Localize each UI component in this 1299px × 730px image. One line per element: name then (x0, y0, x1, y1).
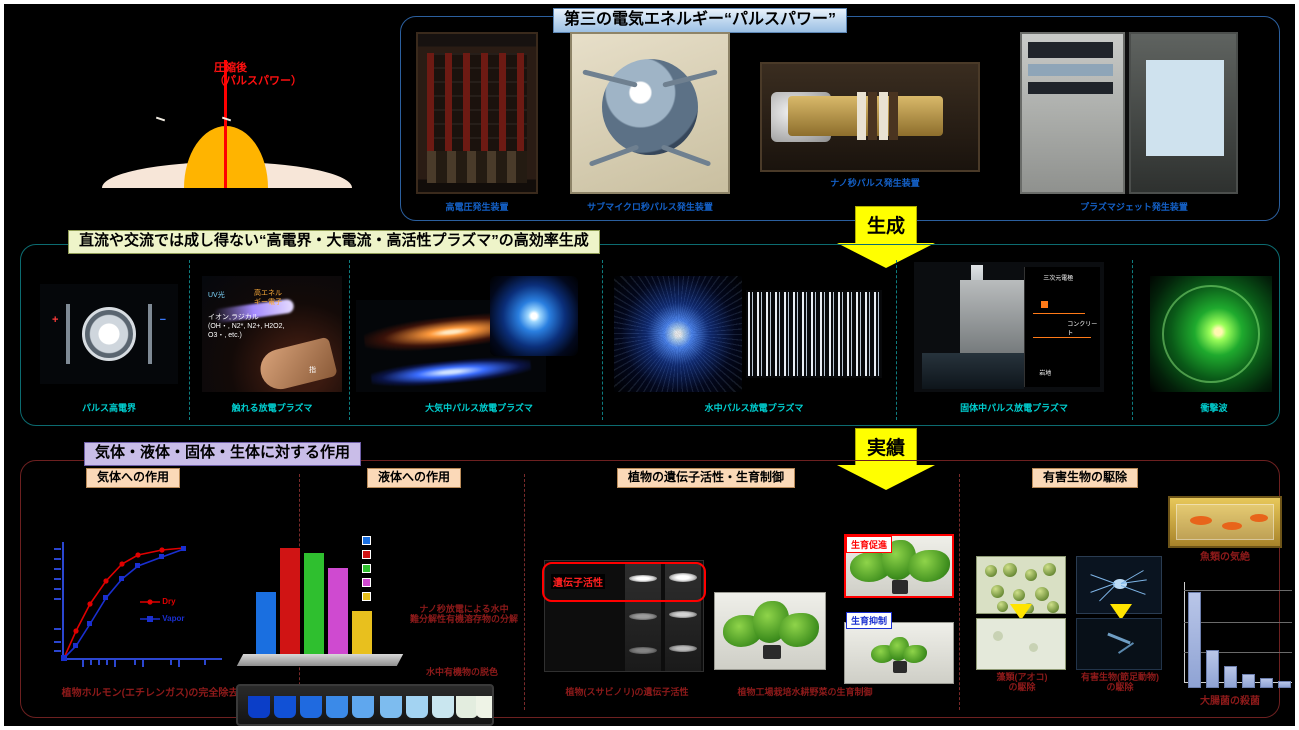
photo-algae-after (976, 618, 1066, 670)
water-tank (922, 353, 1025, 389)
caption-hydroponic-growth-control: 植物工場栽培水耕野菜の生育制御 (700, 687, 910, 697)
electrode-plus-label: + (52, 314, 58, 326)
caption-high-voltage-generator: 高電圧発生装置 (407, 202, 547, 212)
photo-test-tube-rack (236, 684, 494, 726)
row2-divider-2 (349, 260, 350, 420)
legend-dry: Dry (140, 597, 176, 606)
row2-divider-3 (602, 260, 603, 420)
row2-divider-4 (896, 260, 897, 420)
algae-cell (1035, 587, 1049, 601)
tag-gene-activity: 遺伝子活性 (551, 574, 605, 589)
algae-cell (1013, 589, 1025, 601)
overlay-ions-radicals: イオン,ラジカル (OH・, N2*, N2+, H2O2, O3・, etc.… (208, 314, 284, 340)
row2-divider-5 (1132, 260, 1133, 420)
legend-swatch-3 (362, 564, 371, 573)
caption-submicrosecond-pulse-generator: サブマイクロ秒パルス発生装置 (560, 202, 740, 212)
algae-cell (985, 565, 997, 577)
bar-5 (352, 611, 372, 654)
gel-band-4 (669, 611, 697, 618)
photo-hydroponic-plant (714, 592, 826, 670)
ecoli-bar-4 (1242, 674, 1255, 688)
overlay-finger-label: 指 (309, 367, 316, 376)
legend-swatch-2 (362, 550, 371, 559)
shock-ring (1162, 285, 1260, 382)
test-tube-6 (380, 696, 402, 718)
test-tube-2 (274, 696, 296, 718)
promoted-leaf-right (908, 550, 950, 582)
concrete-diagram: 三次元電極 コンクリート 岩地 (1024, 267, 1100, 387)
caption-atmospheric-pulsed-discharge: 大気中パルス放電プラズマ (389, 403, 569, 413)
caption-ecoli-sterilization: 大腸菌の殺菌 (1170, 696, 1290, 708)
rack-slot-1 (1028, 42, 1113, 58)
algae-remnant (993, 631, 1003, 641)
algae-remnant (1029, 643, 1038, 652)
fish-3 (1250, 514, 1268, 522)
crack-line-1 (1033, 313, 1085, 314)
row3-title: 気体・液体・固体・生体に対する作用 (84, 442, 361, 466)
rack-slot-3 (1028, 82, 1113, 94)
label-concrete: コンクリート (1067, 319, 1100, 337)
subhead-plant-gene-growth: 植物の遺伝子活性・生育制御 (617, 468, 795, 488)
blue-glow-streak (371, 354, 532, 390)
concrete-block (960, 280, 1025, 361)
legend-marker-dry (140, 598, 160, 606)
arrow-generation-label: 生成 (837, 211, 935, 238)
photo-streamer-array (746, 290, 882, 378)
coil-arm-bottom-right (661, 144, 712, 166)
streamer-filaments (748, 292, 880, 376)
plant-pot (763, 645, 781, 659)
photo-touchable-plasma: UV光 高エネル ギー電子 イオン,ラジカル (OH・, N2*, N2+, H… (202, 276, 342, 392)
arthropod-debris (1107, 633, 1130, 645)
chart-plinth (237, 654, 403, 666)
row2-divider-1 (189, 260, 190, 420)
caption-decolorization: 水中有機物の脱色 (392, 667, 532, 677)
subhead-liquid-action: 液体への作用 (367, 468, 461, 488)
stripe-1 (857, 92, 866, 141)
electrode-marker (1041, 301, 1048, 308)
caption-gene-activity: 植物(スサビノリ)の遺伝子活性 (532, 687, 722, 697)
row3-divider-3 (959, 474, 960, 710)
tag-growth-suppress: 生育抑制 (846, 612, 892, 629)
algae-cell (997, 601, 1008, 612)
arthropod-debris (1118, 642, 1134, 654)
caption-solid-pulsed-discharge: 固体中パルス放電プラズマ (929, 403, 1099, 413)
photo-nanosecond-pulse-generator (760, 62, 980, 172)
arthropod-leg (1121, 585, 1146, 595)
glow-halo (490, 276, 578, 356)
ecoli-bar-2 (1206, 650, 1219, 688)
bar-3 (304, 553, 324, 654)
ecoli-bar-5 (1260, 678, 1273, 688)
legend-swatch-1 (362, 536, 371, 545)
starburst-core (614, 276, 742, 392)
photo-arthropod-after (1076, 618, 1162, 670)
algae-cell (1047, 601, 1059, 613)
test-tube-10 (476, 696, 494, 718)
algae-cell (991, 585, 1004, 598)
tag-growth-promote: 生育促進 (846, 536, 892, 553)
suppressed-leaf-right (903, 645, 927, 663)
finger (256, 337, 337, 392)
stripe-4 (889, 92, 898, 141)
subhead-gas-action: 気体への作用 (86, 468, 180, 488)
gel-band-6 (669, 645, 697, 652)
arrow-head (837, 465, 935, 490)
pulse-compression-diagram: 圧縮後 （パルスパワー） (64, 44, 374, 204)
caption-fish-stunning: 魚類の気絶 (1168, 552, 1282, 564)
ecoli-bar-6 (1278, 681, 1291, 688)
photo-shock-wave (1150, 276, 1272, 392)
arthropod-leg (1090, 574, 1115, 584)
chart-curves (44, 542, 234, 668)
ecoli-gridline (1184, 590, 1292, 591)
test-tube-9 (456, 696, 478, 718)
ecoli-bar-3 (1224, 666, 1237, 688)
row1-title: 第三の電気エネルギー“パルスパワー” (553, 8, 847, 33)
overlay-high-energy-electron: 高エネル ギー電子 (254, 290, 282, 308)
row2-title: 直流や交流では成し得ない“高電界・大電流・高活性プラズマ”の高効率生成 (68, 230, 600, 254)
test-tube-3 (300, 696, 322, 718)
electrode-plate-left (66, 304, 70, 364)
caption-pulsed-high-field: パルス高電界 (49, 403, 169, 413)
bar-4 (328, 568, 348, 654)
photo-high-voltage-generator (416, 32, 538, 194)
subhead-pest-elimination: 有害生物の駆除 (1032, 468, 1138, 488)
caption-nanosecond-pulse-generator: ナノ秒パルス発生装置 (780, 178, 970, 188)
photo-submicrosecond-pulse-generator (570, 32, 730, 194)
chamber-window (1146, 60, 1224, 156)
test-tube-7 (406, 696, 428, 718)
algae-cell (1043, 563, 1056, 576)
test-tube-4 (326, 696, 348, 718)
photo-pulsed-high-field: + − (40, 284, 178, 384)
caption-plasma-jet-generator: プラズマジェット発生装置 (1044, 202, 1224, 212)
fish-2 (1222, 522, 1242, 530)
test-tube-5 (352, 696, 374, 718)
algae-cell (1003, 563, 1017, 577)
pulse-power-label: 圧縮後 （パルスパワー） (214, 62, 374, 87)
chart-ecoli-sterilization (1184, 582, 1294, 688)
electrode-minus-label: − (160, 314, 166, 326)
caption-touchable-plasma: 触れる放電プラズマ (202, 403, 342, 413)
overlay-uv-light: UV光 (208, 292, 225, 301)
caption-organic-decomposition: ナノ秒放電による水中 難分解性有機溶存物の分解 (374, 604, 554, 625)
caption-underwater-pulsed-discharge: 水中パルス放電プラズマ (669, 403, 839, 413)
crack-line-2 (1033, 337, 1091, 338)
rack-slot-2 (1028, 64, 1113, 76)
algae-cell (1025, 569, 1037, 581)
test-tube-8 (432, 696, 454, 718)
poster-canvas: 第三の電気エネルギー“パルスパワー” 圧縮後 （パルスパワー） 高電圧発生装置 … (4, 4, 1295, 726)
arrow-results: 実績 (837, 428, 935, 490)
test-tube-1 (248, 696, 270, 718)
promoted-pot (892, 580, 908, 594)
bar-1 (256, 592, 276, 654)
label-3d-electrode: 三次元電極 (1043, 273, 1073, 282)
suppressed-pot (893, 661, 907, 673)
stripe-2 (868, 92, 877, 141)
treatment-cell (82, 307, 136, 361)
label-bedrock: 岩地 (1039, 368, 1051, 377)
stripe-3 (879, 92, 888, 141)
arrow-results-label: 実績 (837, 433, 935, 460)
caption-shock-wave: 衝撃波 (1164, 403, 1264, 413)
legend-vapor: Vapor (140, 614, 184, 623)
gel-band-5 (629, 647, 657, 654)
legend-swatch-4 (362, 578, 371, 587)
photo-plasma-jet-generator (1020, 32, 1238, 194)
caption-arthropod-elimination: 有害生物(節足動物) の駆除 (1060, 672, 1180, 693)
legend-swatch-5 (362, 592, 371, 601)
chart-ethylene-removal: Dry Vapor (44, 542, 234, 682)
photo-growth-suppressed (844, 622, 954, 684)
coil-arm-bottom-left (589, 144, 640, 166)
fish-1 (1190, 516, 1212, 525)
round-coil (602, 59, 698, 155)
gel-band-3 (629, 613, 657, 620)
legend-label-vapor: Vapor (162, 614, 184, 623)
photo-underwater-pulsed-discharge (614, 276, 742, 392)
electrode-plate-right (148, 304, 152, 364)
photo-solid-pulsed-discharge: 三次元電極 コンクリート 岩地 (914, 262, 1104, 392)
plant-leaf-right (779, 613, 819, 647)
ecoli-bar-1 (1188, 592, 1201, 688)
ecoli-y-axis (1184, 582, 1185, 682)
photo-blue-glow-disc (490, 276, 578, 356)
legend-label-dry: Dry (162, 597, 175, 606)
arrow-generation: 生成 (837, 206, 935, 268)
photo-fish-stunning (1168, 496, 1282, 548)
tick-mark-left (156, 117, 165, 122)
bar-2 (280, 548, 300, 654)
legend-marker-vapor (140, 615, 160, 623)
